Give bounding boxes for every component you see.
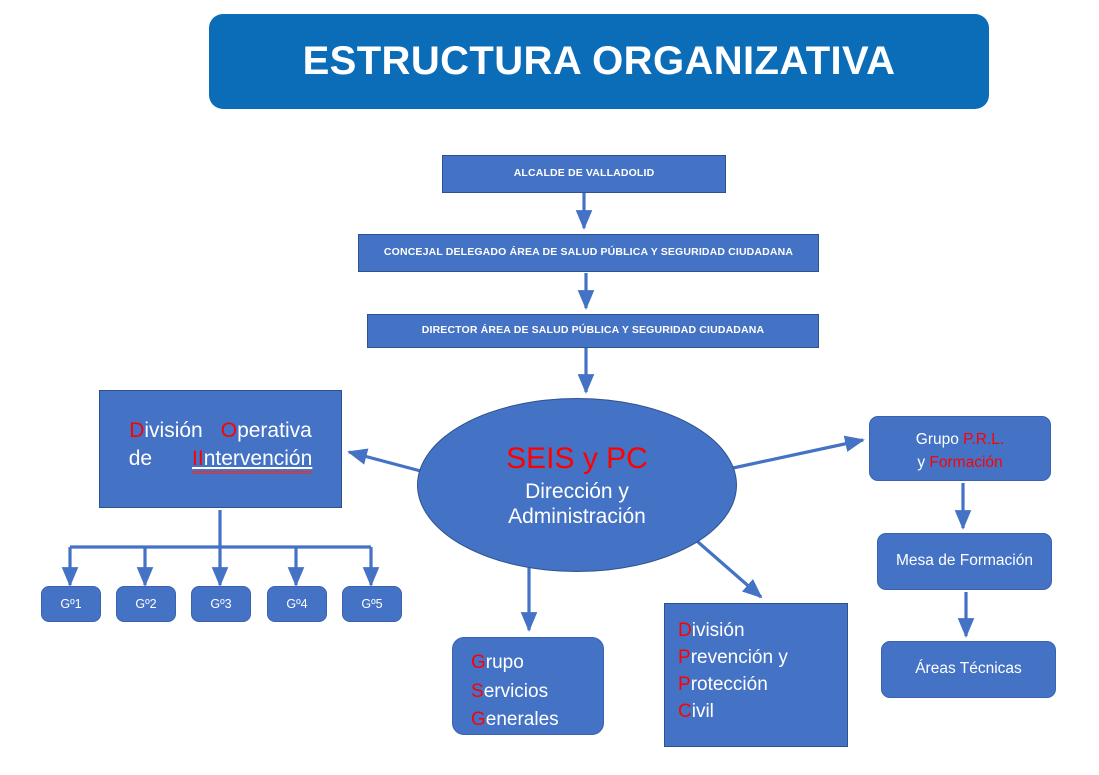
node-grupo-5-label: Gº5	[361, 596, 382, 613]
dppc-line-1: División	[678, 617, 847, 644]
grupo-prl-acronym: P.R.L.	[963, 431, 1004, 448]
org-chart-canvas: ESTRUCTURA ORGANIZATIVA ALCALDE DE VALLA…	[0, 0, 1099, 775]
node-mesa-de-formacion[interactable]: Mesa de Formación	[877, 533, 1052, 590]
dppc-cap-p2: P	[678, 674, 691, 695]
grupo-prl-word-formacion: Formación	[929, 454, 1002, 471]
grupo-prl-line-1: Grupo P.R.L.	[870, 428, 1050, 451]
node-grupo-1-label: Gº1	[60, 596, 81, 613]
node-concejal-delegado-label: CONCEJAL DELEGADO ÁREA DE SALUD PÚBLICA …	[384, 246, 793, 260]
node-mesa-de-formacion-label: Mesa de Formación	[896, 551, 1033, 571]
division-op-rest-3: ntervención	[204, 447, 313, 470]
node-grupo-4-label: Gº4	[286, 596, 307, 613]
division-operativa-line-1: DivisiónOperativa	[114, 417, 327, 445]
node-seis-y-pc[interactable]: SEIS y PC Dirección y Administración	[417, 398, 737, 572]
node-division-prevencion-proteccion-civil[interactable]: División Prevención y Protección Civil	[664, 603, 848, 747]
dppc-line-3: Protección	[678, 671, 847, 698]
node-grupo-servicios-generales[interactable]: Grupo Servicios Generales	[452, 637, 604, 735]
division-op-cap-d: D	[129, 419, 144, 442]
division-operativa-line-2: deIIntervención	[114, 445, 327, 473]
dppc-cap-p1: P	[678, 647, 691, 668]
node-division-operativa[interactable]: DivisiónOperativa deIIntervención	[99, 390, 342, 508]
dppc-rest-3: rotección	[691, 674, 768, 695]
gsg-cap-g2: G	[471, 709, 486, 730]
node-alcalde[interactable]: ALCALDE DE VALLADOLID	[442, 155, 726, 193]
gsg-rest-1: rupo	[486, 652, 524, 673]
division-op-cap-i: II	[192, 447, 204, 470]
seis-subtitle-1: Dirección y	[525, 479, 629, 504]
node-grupo-5[interactable]: Gº5	[342, 586, 402, 622]
node-grupo-prl[interactable]: Grupo P.R.L. y Formación	[869, 416, 1051, 481]
dppc-rest-1: ivisión	[692, 620, 745, 641]
division-op-rest-2: perativa	[237, 419, 312, 442]
node-areas-tecnicas[interactable]: Áreas Técnicas	[881, 641, 1056, 698]
gsg-line-3: Generales	[471, 706, 603, 735]
seis-subtitle-2: Administración	[508, 504, 646, 529]
node-concejal-delegado[interactable]: CONCEJAL DELEGADO ÁREA DE SALUD PÚBLICA …	[358, 234, 819, 272]
page-title-banner: ESTRUCTURA ORGANIZATIVA	[209, 14, 989, 109]
node-grupo-1[interactable]: Gº1	[41, 586, 101, 622]
page-title: ESTRUCTURA ORGANIZATIVA	[303, 39, 896, 84]
dppc-line-4: Civil	[678, 698, 847, 725]
gsg-rest-3: enerales	[486, 709, 559, 730]
gsg-rest-2: ervicios	[484, 681, 548, 702]
division-op-intervencion: IIntervención	[192, 447, 312, 470]
division-op-cap-o: O	[221, 419, 237, 442]
grupo-prl-word-y: y	[917, 454, 929, 471]
seis-title: SEIS y PC	[506, 441, 648, 477]
gsg-cap-s: S	[471, 681, 484, 702]
division-op-de: de	[129, 447, 152, 470]
gsg-line-1: Grupo	[471, 649, 603, 678]
dppc-line-2: Prevención y	[678, 644, 847, 671]
grupo-prl-word-grupo: Grupo	[916, 431, 963, 448]
node-grupo-4[interactable]: Gº4	[267, 586, 327, 622]
dppc-cap-d: D	[678, 620, 692, 641]
node-director-area[interactable]: DIRECTOR ÁREA DE SALUD PÚBLICA Y SEGURID…	[367, 314, 819, 348]
dppc-rest-2: revención y	[691, 647, 788, 668]
node-grupo-2[interactable]: Gº2	[116, 586, 176, 622]
node-grupo-3-label: Gº3	[210, 596, 231, 613]
division-op-rest-1: ivisión	[144, 419, 202, 442]
dppc-rest-4: ivil	[692, 701, 714, 722]
node-director-area-label: DIRECTOR ÁREA DE SALUD PÚBLICA Y SEGURID…	[422, 324, 764, 338]
node-grupo-3[interactable]: Gº3	[191, 586, 251, 622]
gsg-cap-g1: G	[471, 652, 486, 673]
node-areas-tecnicas-label: Áreas Técnicas	[915, 659, 1022, 679]
dppc-cap-c: C	[678, 701, 692, 722]
gsg-line-2: Servicios	[471, 678, 603, 707]
node-alcalde-label: ALCALDE DE VALLADOLID	[514, 167, 655, 181]
grupo-prl-line-2: y Formación	[870, 451, 1050, 474]
node-grupo-2-label: Gº2	[135, 596, 156, 613]
